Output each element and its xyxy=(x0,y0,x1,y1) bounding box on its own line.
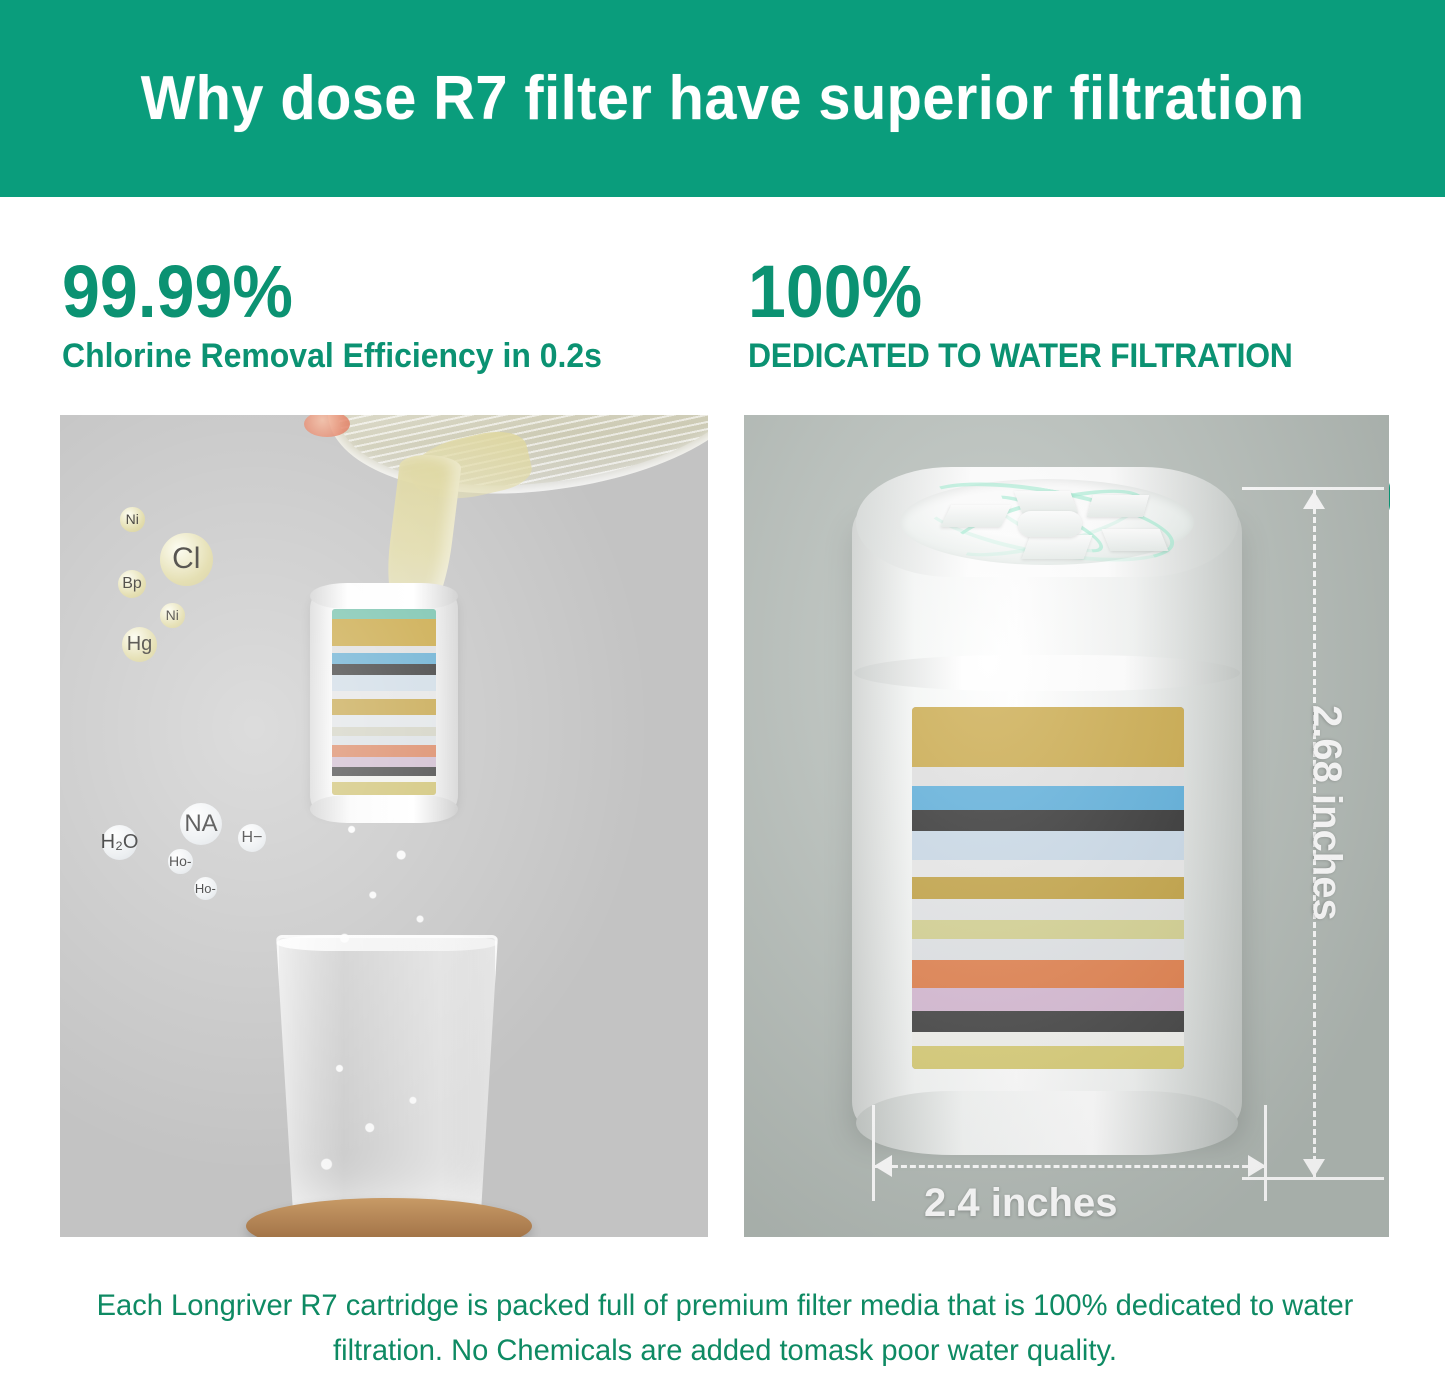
filter-media-layer xyxy=(332,727,436,736)
filter-media-layer xyxy=(912,877,1184,898)
filter-media-layer xyxy=(912,1032,1184,1046)
filter-media-layer xyxy=(912,860,1184,877)
filter-media-layer xyxy=(332,646,436,653)
stat-chlorine-removal: 99.99% Chlorine Removal Efficiency in 0.… xyxy=(62,252,636,376)
filter-media-layer xyxy=(332,767,436,776)
filter-media-layer xyxy=(912,810,1184,831)
dimension-arrow-up-icon xyxy=(1303,491,1325,509)
filter-media-layer xyxy=(332,653,436,664)
filter-media-layer xyxy=(912,767,1184,786)
filter-media-layer xyxy=(332,691,436,699)
molecule-label: Bp xyxy=(118,570,146,598)
filter-media-layer xyxy=(912,786,1184,809)
filter-media-layer xyxy=(912,988,1184,1011)
filter-media-layer xyxy=(912,920,1184,939)
right-product-photo: 2.68 inches 2.4 inches xyxy=(744,415,1389,1237)
dimension-tick-right xyxy=(1264,1105,1267,1201)
filter-media-layer xyxy=(912,1011,1184,1032)
dimension-height-label: 2.68 inches xyxy=(1304,705,1349,921)
stat-number: 99.99% xyxy=(62,252,590,332)
caption-text: Each Longriver R7 cartridge is packed fu… xyxy=(90,1283,1361,1373)
cartridge-lid xyxy=(856,467,1238,577)
inlet-vane xyxy=(1014,491,1078,513)
filter-media-window xyxy=(912,707,1184,1069)
filter-media-layer xyxy=(332,619,436,646)
molecule-label: Cl xyxy=(160,533,213,586)
filter-media-layer xyxy=(332,675,436,691)
molecule-label: Ho- xyxy=(194,877,217,900)
dimension-arrow-right-icon xyxy=(1248,1155,1266,1177)
filter-media-layer xyxy=(332,664,436,675)
filter-media-layer xyxy=(912,1046,1184,1069)
stat-number: 100% xyxy=(748,252,1281,332)
cartridge-base xyxy=(856,1091,1238,1155)
molecule-label: H− xyxy=(238,824,266,852)
filter-media-layer xyxy=(912,960,1184,987)
inlet-vane xyxy=(1087,495,1149,517)
filter-media-layer xyxy=(912,939,1184,960)
stat-dedicated-filtration: 100% DEDICATED TO WATER FILTRATION xyxy=(748,252,1327,376)
filter-media-window xyxy=(332,609,436,795)
wooden-coaster xyxy=(246,1198,532,1237)
filter-media-layer xyxy=(332,609,436,619)
dimension-line-horizontal xyxy=(874,1165,1266,1168)
filter-media-layer xyxy=(332,757,436,767)
glass-rim xyxy=(276,935,498,951)
dimension-arrow-down-icon xyxy=(1303,1159,1325,1177)
inlet-vane xyxy=(1102,529,1169,551)
inlet-vane xyxy=(941,505,1012,527)
left-product-photo: NiClBpNiHg NAH₂OH−Ho-Ho- xyxy=(60,415,708,1237)
cartridge-neck xyxy=(854,655,1240,691)
filter-cartridge-right xyxy=(852,507,1242,1127)
filter-media-layer xyxy=(332,745,436,757)
page-title: Why dose R7 filter have superior filtrat… xyxy=(141,63,1305,134)
header-banner: Why dose R7 filter have superior filtrat… xyxy=(0,0,1445,197)
filter-media-layer xyxy=(332,699,436,714)
inlet-hub xyxy=(1018,511,1082,537)
molecule-label: Ho- xyxy=(168,849,193,874)
molecule-label: NA xyxy=(180,803,222,845)
stat-subtitle: DEDICATED TO WATER FILTRATION xyxy=(748,336,1293,376)
filter-media-layer xyxy=(332,736,436,745)
drinking-glass xyxy=(276,935,498,1225)
molecule-label: Hg xyxy=(122,627,157,662)
dimension-arrow-left-icon xyxy=(874,1155,892,1177)
cartridge-lid-inlet xyxy=(900,479,1194,565)
filter-media-layer xyxy=(332,715,436,728)
filter-media-layer xyxy=(912,831,1184,860)
inlet-vane xyxy=(1022,535,1093,559)
dimension-tick-left xyxy=(872,1105,875,1201)
glass-water xyxy=(279,1000,495,1228)
filter-cartridge-left xyxy=(310,593,458,811)
filter-media-layer xyxy=(912,707,1184,767)
cartridge-top-cap xyxy=(310,583,458,609)
molecule-label: H₂O xyxy=(102,825,137,860)
filter-media-layer xyxy=(912,899,1184,920)
molecule-label: Ni xyxy=(160,603,185,628)
molecule-label: Ni xyxy=(120,507,145,532)
stat-subtitle: Chlorine Removal Efficiency in 0.2s xyxy=(62,336,602,376)
filter-media-layer xyxy=(332,782,436,795)
dimension-width-label: 2.4 inches xyxy=(924,1181,1117,1226)
stats-row: 99.99% Chlorine Removal Efficiency in 0.… xyxy=(0,197,1445,415)
